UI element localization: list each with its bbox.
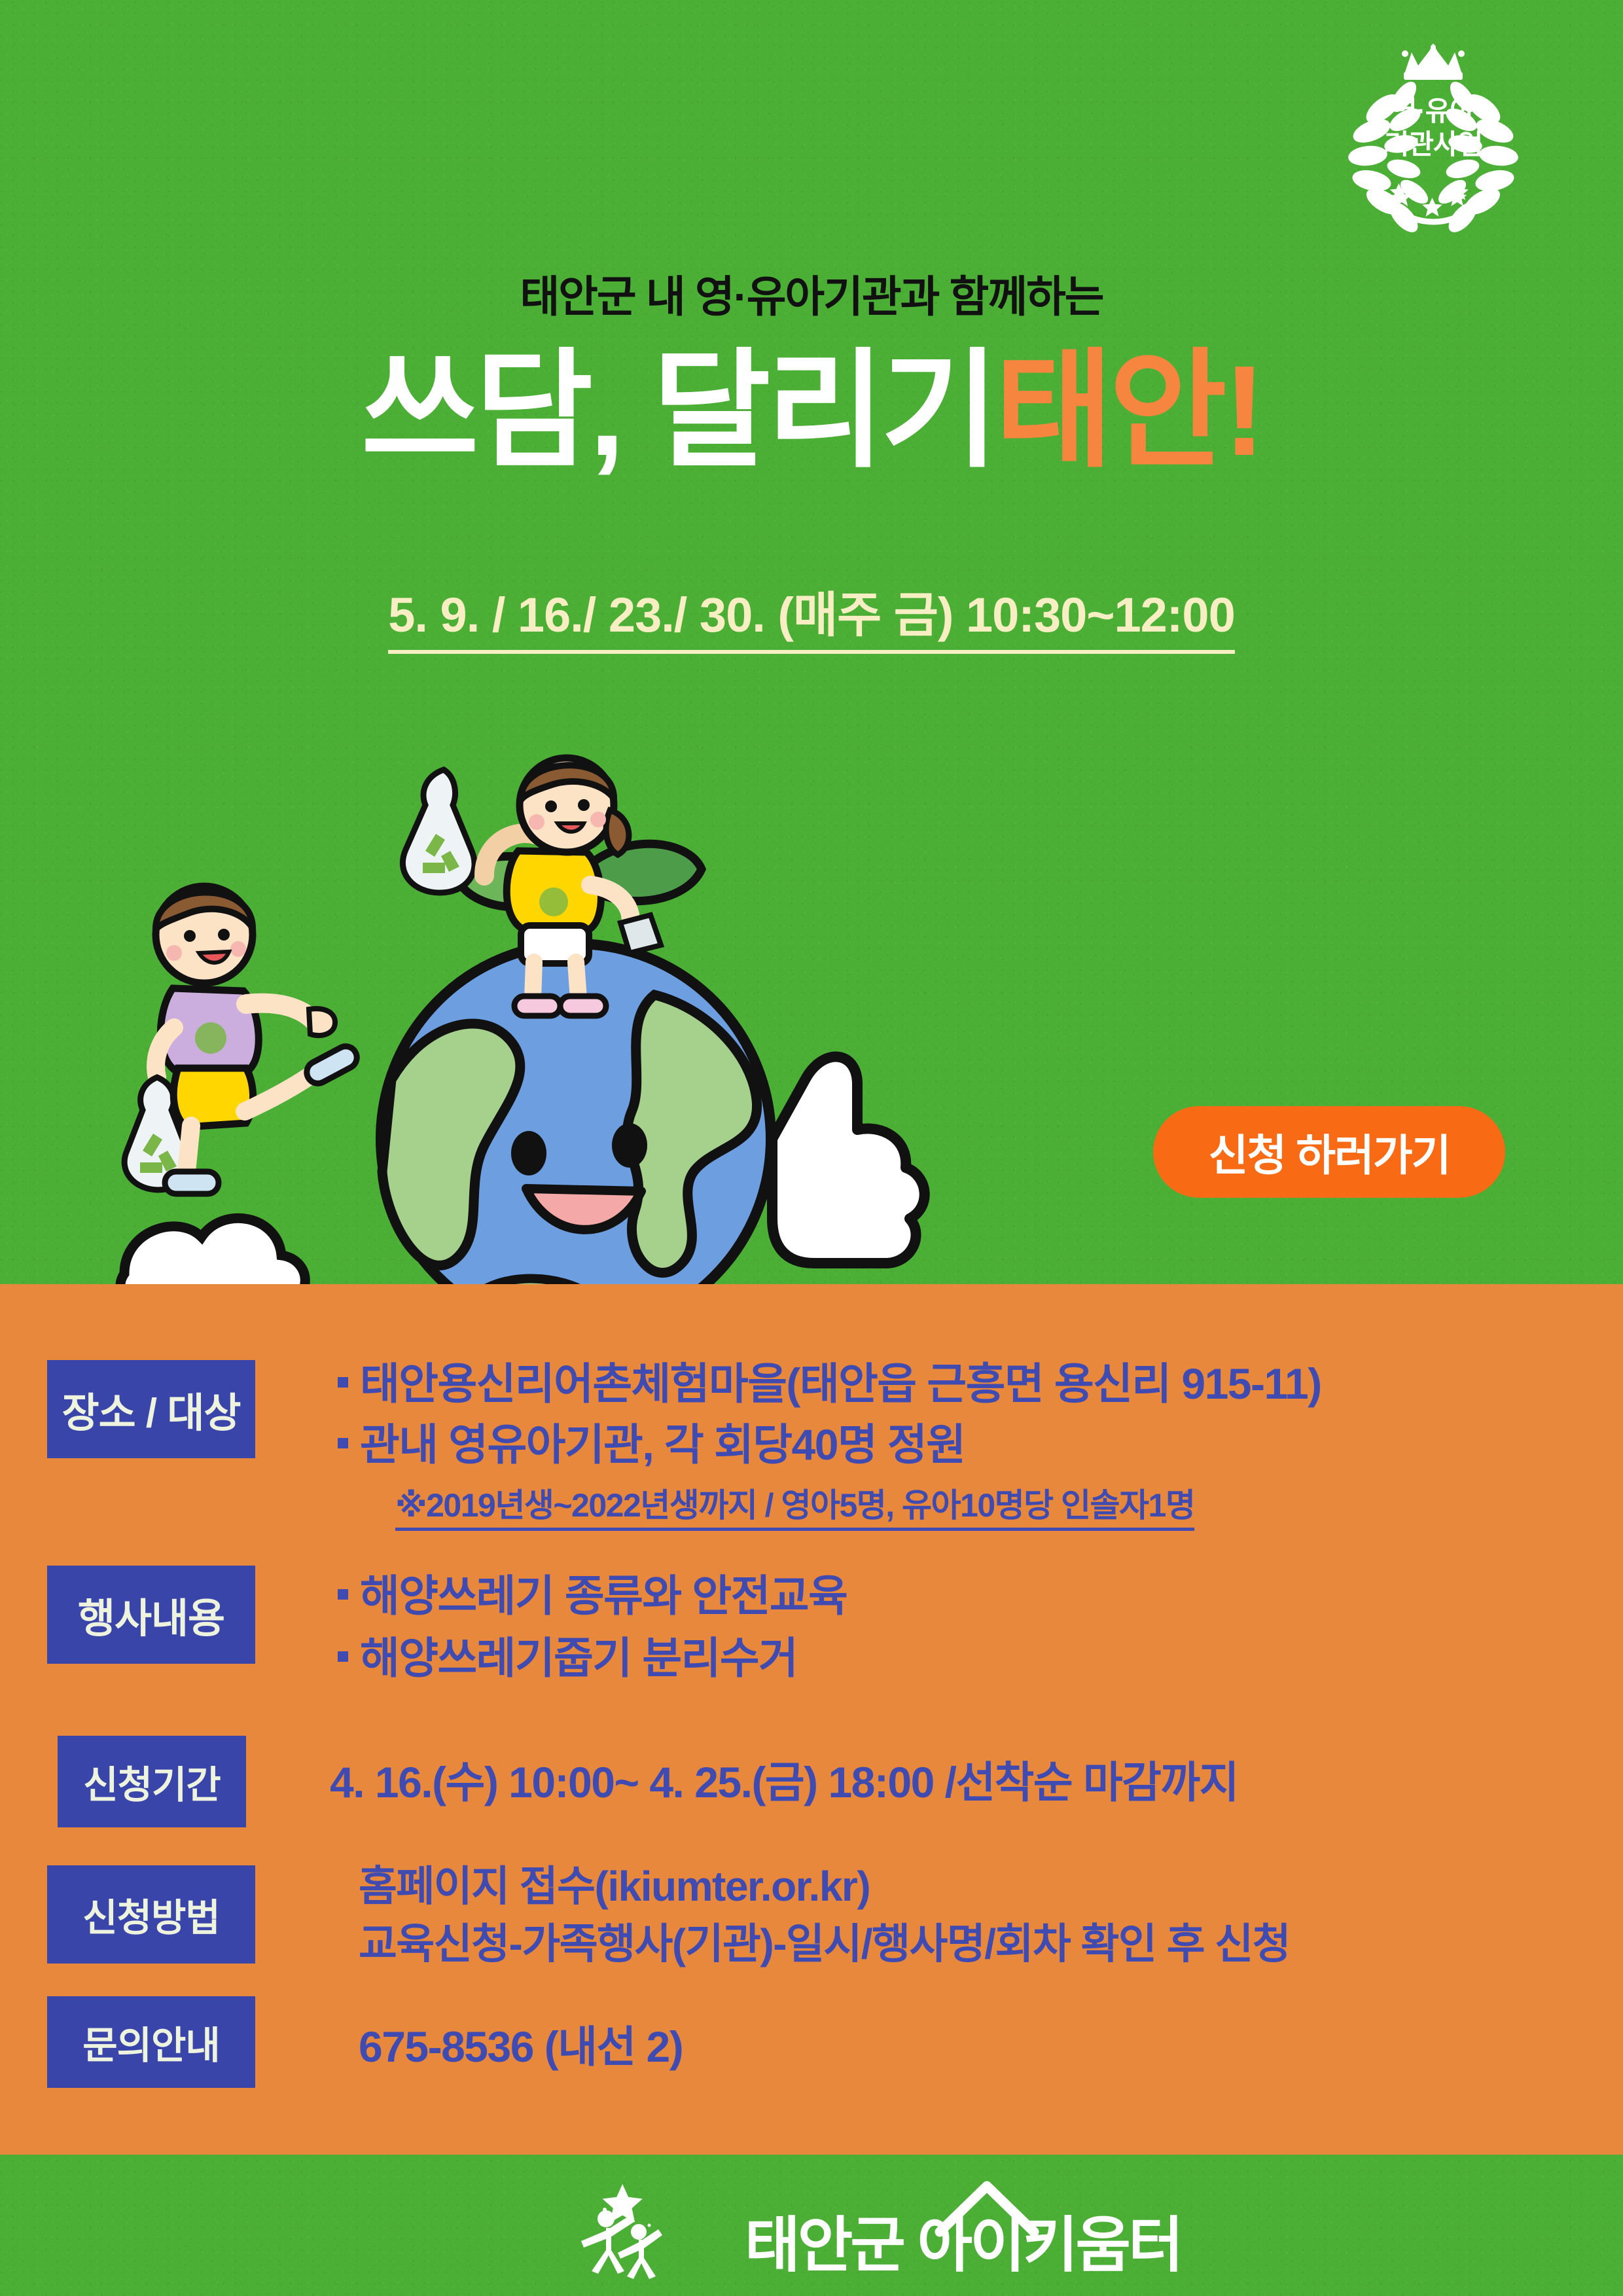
dateline-text: 5. 9. / 16./ 23./ 30. (매주 금) 10:30~12:00 xyxy=(388,576,1234,654)
list-item: 태안용신리어촌체험마을(태안읍 근흥면 용신리 915-11) xyxy=(338,1355,1581,1413)
content-line-1: 해양쓰레기 종류와 안전교육 xyxy=(360,1567,847,1625)
two-children-with-stars-icon xyxy=(581,2184,662,2279)
poster-kicker: 태안군 내 영·유아기관과 함께하는 xyxy=(0,262,1623,325)
info-label-venue: 장소 / 대상 xyxy=(47,1360,255,1458)
recycle-bag-girl xyxy=(402,770,474,893)
method-line-2: 교육신청-가족행사(기관)-일시/행사명/회차 확인 후 신청 xyxy=(359,1915,1290,1973)
info-label-contact: 문의안내 xyxy=(47,1996,255,2088)
info-label-method: 신청방법 xyxy=(47,1865,255,1964)
info-body-method: 홈페이지 접수(ikiumter.or.kr) 교육신청-가족행사(기관)-일시… xyxy=(359,1857,1290,1973)
method-line-1: 홈페이지 접수(ikiumter.or.kr) xyxy=(359,1857,1290,1915)
ikiumter-logo: 태안군 아이키움터 xyxy=(576,2173,1047,2284)
info-panel: 장소 / 대상 태안용신리어촌체험마을(태안읍 근흥면 용신리 915-11) … xyxy=(0,1284,1623,2155)
logo-text: 태안군 아이키움터 xyxy=(745,2197,1181,2284)
content-line-2: 해양쓰레기줍기 분리수거 xyxy=(360,1629,797,1687)
title-white-part: 쓰담, 달리기 xyxy=(361,339,995,482)
badge-line-2: 기관사업 xyxy=(1306,128,1561,161)
venue-note: ※2019년생~2022년생까지 / 영아5명, 유아10명당 인솔자1명 xyxy=(395,1479,1194,1531)
list-item: 해양쓰레기줍기 분리수거 xyxy=(338,1629,1581,1687)
list-item: 해양쓰레기 종류와 안전교육 xyxy=(338,1567,1581,1625)
bullet-marker xyxy=(338,1438,348,1448)
venue-line-1: 태안용신리어촌체험마을(태안읍 근흥면 용신리 915-11) xyxy=(360,1355,1321,1413)
poster-dateline: 5. 9. / 16./ 23./ 30. (매주 금) 10:30~12:00 xyxy=(0,576,1623,654)
poster-root: 영·유아 기관사업 태안군 내 영·유아기관과 함께하는 쓰담, 달리기태안! … xyxy=(0,0,1623,2296)
badge-text: 영·유아 기관사업 xyxy=(1306,94,1561,161)
thumbs-up-icon xyxy=(772,1057,925,1263)
info-body-content: 해양쓰레기 종류와 안전교육 해양쓰레기줍기 분리수거 xyxy=(338,1567,1581,1687)
bullet-marker xyxy=(338,1589,348,1600)
badge-line-1: 영·유아 xyxy=(1306,94,1561,128)
boy-running-with-trash-bag-icon xyxy=(124,886,361,1194)
crown-icon xyxy=(1402,43,1465,80)
bullet-marker xyxy=(338,1651,348,1662)
info-body-period: 4. 16.(수) 10:00~ 4. 25.(금) 18:00 /선착순 마감… xyxy=(330,1748,1238,1810)
bullet-marker xyxy=(338,1377,348,1388)
footer: 태안군 아이키움터 xyxy=(0,2160,1623,2296)
title-orange-part: 태안! xyxy=(995,339,1262,482)
venue-line-2: 관내 영유아기관, 각 회당40명 정원 xyxy=(360,1416,965,1474)
poster-title: 쓰담, 달리기태안! xyxy=(0,347,1623,475)
info-label-content: 행사내용 xyxy=(47,1566,255,1664)
list-item: 관내 영유아기관, 각 회당40명 정원 xyxy=(338,1416,1581,1474)
earth-illustration xyxy=(118,713,1047,1316)
program-badge: 영·유아 기관사업 xyxy=(1306,31,1561,241)
info-body-venue: 태안용신리어촌체험마을(태안읍 근흥면 용신리 915-11) 관내 영유아기관… xyxy=(338,1355,1581,1531)
apply-button[interactable]: 신청 하러가기 xyxy=(1153,1106,1505,1198)
info-label-period: 신청기간 xyxy=(58,1736,246,1827)
info-body-contact: 675-8536 (내선 2) xyxy=(359,2012,683,2075)
